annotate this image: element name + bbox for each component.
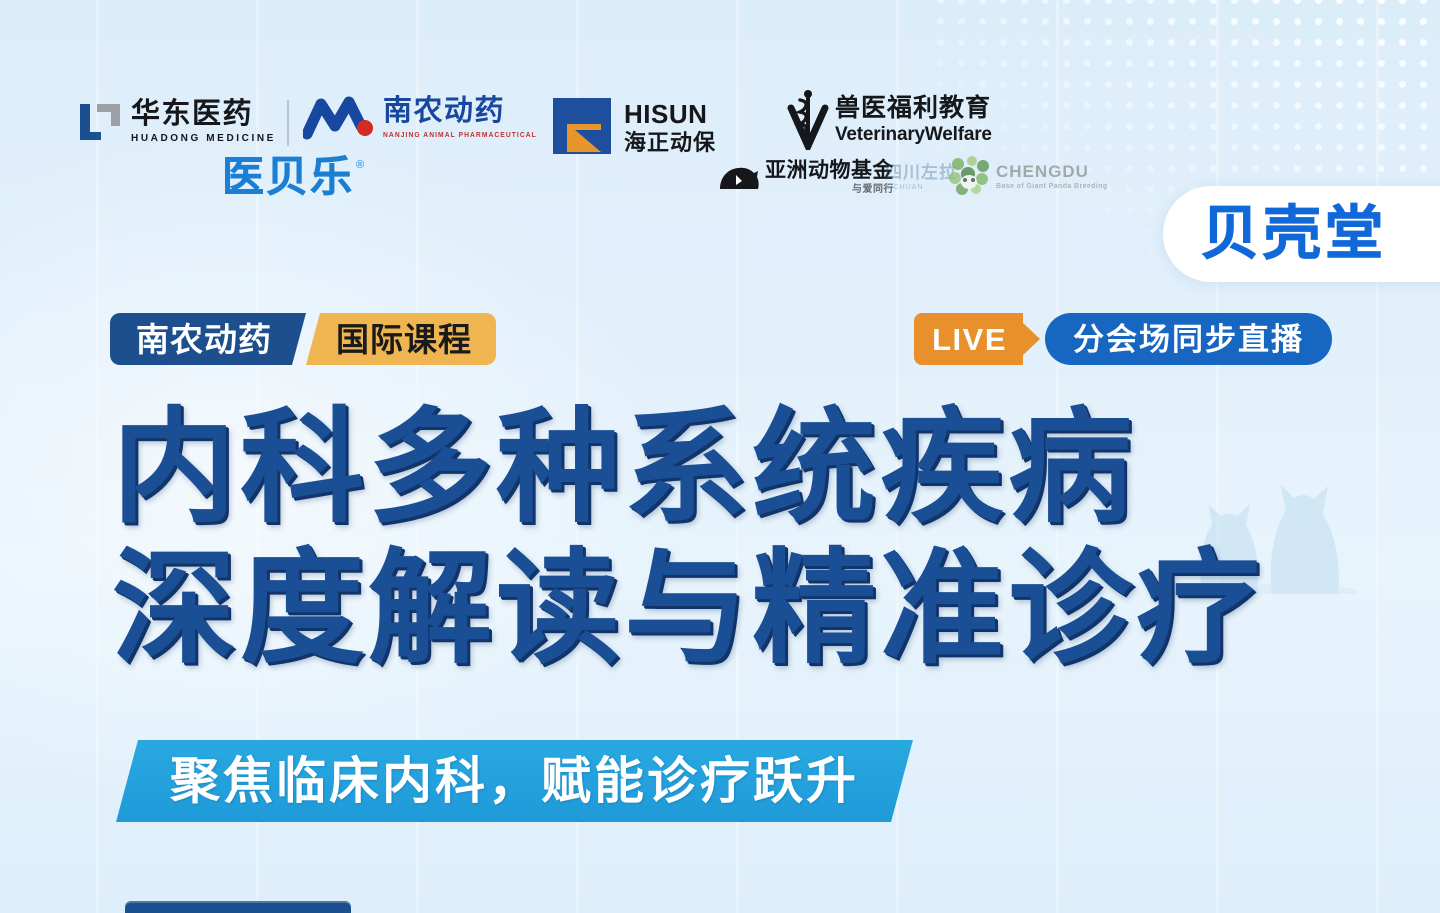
moon-bear-icon — [718, 165, 760, 191]
broadcast-pill: 分会场同步直播 — [1045, 313, 1332, 365]
sichuan-subtitle: SICHUAN — [885, 184, 957, 191]
subtitle-text: 聚焦临床内科，赋能诊疗跃升 — [170, 756, 859, 806]
subtitle-ribbon: 聚焦临床内科，赋能诊疗跃升 — [116, 740, 913, 822]
headline-line-1: 内科多种系统疾病 — [112, 398, 1352, 539]
sichuan-name-cn: 四川左拉 — [885, 164, 957, 181]
animals-asia-name-cn: 亚洲动物基金 — [765, 160, 894, 181]
panda-base-leaf-icon — [948, 156, 992, 196]
sponsor-logo-veterinary-welfare: 兽医福利教育 VeterinaryWelfare — [787, 90, 992, 150]
bottom-panel-edge — [125, 901, 351, 913]
brand-pill: 贝壳堂 — [1163, 186, 1440, 282]
huadong-name-cn: 华东医药 — [131, 100, 276, 129]
nanong-name-cn: 南农动药 — [383, 97, 543, 126]
chengdu-subtitle: Base of Giant Panda Breeding — [996, 183, 1108, 190]
live-badge-group: LIVE 分会场同步直播 — [914, 313, 1332, 365]
broadcast-label: 分会场同步直播 — [1073, 324, 1304, 355]
tag-course: 国际课程 — [306, 313, 496, 365]
yibeile-registered-mark: ® — [356, 159, 364, 171]
hisun-square-mark-icon — [551, 96, 617, 158]
brand-name: 贝壳堂 — [1201, 205, 1387, 263]
tag-sponsor-label: 南农动药 — [136, 323, 272, 356]
promo-poster: 华东医药 HUADONG MEDICINE 南农动药 NANJING ANIMA… — [0, 0, 1440, 913]
video-camera-lens-icon — [1022, 322, 1040, 356]
veterinary-caduceus-icon — [787, 90, 829, 150]
tag-course-label: 国际课程 — [336, 323, 472, 356]
sponsor-logo-huadong: 华东医药 HUADONG MEDICINE — [78, 100, 276, 144]
chengdu-name-en: CHENGDU — [996, 163, 1108, 180]
sponsor-logo-bar: 华东医药 HUADONG MEDICINE 南农动药 NANJING ANIMA… — [0, 84, 1440, 224]
sponsor-logo-nanong: 南农动药 NANJING ANIMAL PHARMACEUTICAL — [303, 96, 543, 140]
tag-row: 南农动药 国际课程 LIVE 分会场同步直播 — [0, 313, 1440, 369]
headline-block: 内科多种系统疾病 深度解读与精准诊疗 — [112, 398, 1352, 681]
huadong-name-en: HUADONG MEDICINE — [131, 134, 276, 144]
vet-welfare-name-en: VeterinaryWelfare — [835, 125, 992, 144]
tag-sponsor: 南农动药 — [110, 313, 306, 365]
sponsor-logo-hisun: HISUN 海正动保 — [551, 96, 716, 158]
live-badge-label: LIVE — [932, 324, 1007, 355]
live-badge: LIVE — [914, 313, 1023, 365]
sponsor-logo-sichuan: 四川左拉 SICHUAN — [885, 164, 957, 191]
huadong-lh-mark-icon — [78, 102, 122, 142]
vet-welfare-name-cn: 兽医福利教育 — [835, 96, 992, 121]
logo-divider — [287, 100, 289, 146]
nanong-name-en: NANJING ANIMAL PHARMACEUTICAL — [383, 132, 537, 139]
sponsor-logo-yibeile: 医贝乐 ® — [222, 156, 364, 198]
headline-line-2: 深度解读与精准诊疗 — [112, 539, 1352, 680]
sponsor-logo-chengdu-panda-base: CHENGDU Base of Giant Panda Breeding — [948, 156, 1108, 196]
nanong-n-mark-icon — [303, 96, 375, 140]
hisun-name-cn: 海正动保 — [624, 132, 716, 154]
hisun-name-en: HISUN — [624, 101, 716, 127]
sponsor-logo-animals-asia: 亚洲动物基金 与爱同行 — [718, 160, 894, 195]
yibeile-name-cn: 医贝乐 — [222, 156, 354, 198]
